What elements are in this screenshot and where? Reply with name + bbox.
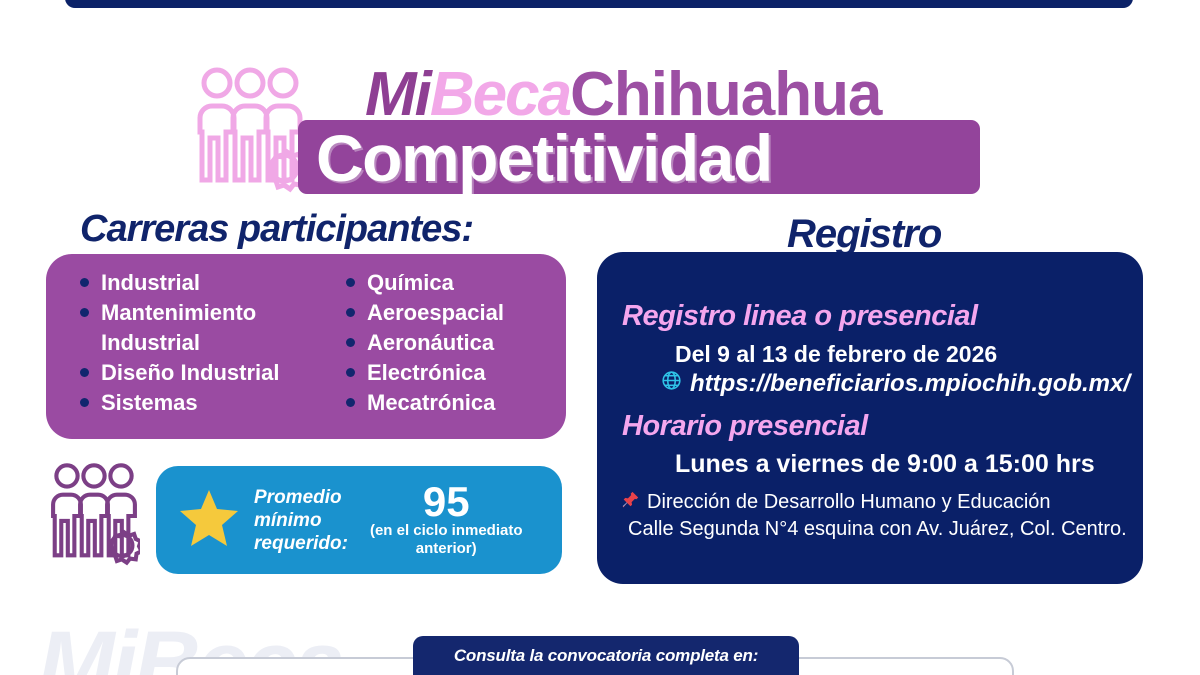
bullet-icon: [346, 278, 355, 287]
consulta-convocatoria-label: Consulta la convocatoria completa en:: [454, 646, 758, 666]
average-requirement-card: Promedio mínimo requerido: 95 (en el cic…: [156, 466, 562, 574]
bullet-icon: [346, 338, 355, 347]
registro-url-row: https://beneficiarios.mpiochih.gob.mx/: [661, 370, 1130, 398]
career-label: Aeroespacial: [367, 298, 504, 327]
competitividad-title: Competitividad: [316, 122, 772, 194]
pushpin-icon: [621, 490, 640, 515]
list-item: Industrial: [80, 268, 300, 297]
career-label: Aeronáutica: [367, 328, 494, 357]
careers-card: Industrial Mantenimiento Industrial Dise…: [46, 254, 566, 439]
poster-canvas: MiBecaChihuahua Competitividad Carreras …: [0, 0, 1200, 675]
career-label: Sistemas: [101, 388, 198, 417]
consulta-convocatoria-tab[interactable]: Consulta la convocatoria completa en:: [413, 636, 799, 675]
career-label: Electrónica: [367, 358, 486, 387]
bullet-icon: [80, 278, 89, 287]
list-item: Química: [346, 268, 566, 297]
list-item: Aeronáutica: [346, 328, 566, 357]
globe-icon: [661, 370, 682, 398]
top-navy-bar: [65, 0, 1133, 8]
career-label: Mantenimiento: [101, 298, 256, 327]
list-item-continuation: Industrial: [80, 328, 300, 357]
bullet-icon: [80, 398, 89, 407]
careers-column-left: Industrial Mantenimiento Industrial Dise…: [80, 268, 300, 418]
average-value-block: 95 (en el ciclo inmediato anterior): [370, 482, 523, 558]
average-value: 95: [370, 482, 523, 522]
average-note-line2: anterior): [370, 540, 523, 558]
average-label: Promedio mínimo requerido:: [254, 486, 348, 555]
average-label-line2: mínimo: [254, 509, 348, 532]
list-item: Sistemas: [80, 388, 300, 417]
career-label: Industrial: [101, 268, 200, 297]
average-label-line3: requerido:: [254, 532, 348, 555]
career-label: Diseño Industrial: [101, 358, 279, 387]
registro-card: Registro linea o presencial Del 9 al 13 …: [597, 252, 1143, 584]
bullet-icon: [346, 368, 355, 377]
career-label: Industrial: [101, 328, 200, 357]
registro-url[interactable]: https://beneficiarios.mpiochih.gob.mx/: [690, 370, 1130, 398]
bullet-icon: [80, 308, 89, 317]
list-item: Aeroespacial: [346, 298, 566, 327]
star-icon: [178, 488, 240, 553]
registro-subtitle-schedule: Horario presencial: [622, 410, 868, 443]
average-note-line1: (en el ciclo inmediato: [370, 522, 523, 540]
registro-address-line1: Dirección de Desarrollo Humano y Educaci…: [647, 491, 1051, 514]
career-label: Química: [367, 268, 454, 297]
registro-hours: Lunes a viernes de 9:00 a 15:00 hrs: [675, 450, 1095, 479]
list-item: Electrónica: [346, 358, 566, 387]
registro-date-range: Del 9 al 13 de febrero de 2026: [675, 341, 997, 368]
average-label-line1: Promedio: [254, 486, 348, 509]
people-gear-icon: [48, 462, 140, 570]
registro-heading: Registro: [787, 212, 941, 257]
career-label: Mecatrónica: [367, 388, 495, 417]
list-item: Mecatrónica: [346, 388, 566, 417]
registro-subtitle-online: Registro linea o presencial: [622, 300, 978, 333]
bullet-icon: [346, 398, 355, 407]
careers-column-right: Química Aeroespacial Aeronáutica Electró…: [346, 268, 566, 418]
brand-title: MiBecaChihuahua: [365, 64, 881, 126]
bullet-icon: [346, 308, 355, 317]
brand-beca: Beca: [430, 60, 570, 129]
registro-address-row: Dirección de Desarrollo Humano y Educaci…: [621, 490, 1051, 515]
list-item: Mantenimiento: [80, 298, 300, 327]
registro-address-line2: Calle Segunda N°4 esquina con Av. Juárez…: [628, 518, 1127, 541]
bullet-icon: [80, 368, 89, 377]
header-logo-block: MiBecaChihuahua Competitividad: [0, 28, 1200, 188]
brand-mi: Mi: [365, 60, 430, 129]
brand-chihuahua: Chihuahua: [570, 60, 881, 129]
list-item: Diseño Industrial: [80, 358, 300, 387]
careers-heading: Carreras participantes:: [80, 208, 473, 251]
people-gear-icon: [196, 66, 304, 198]
